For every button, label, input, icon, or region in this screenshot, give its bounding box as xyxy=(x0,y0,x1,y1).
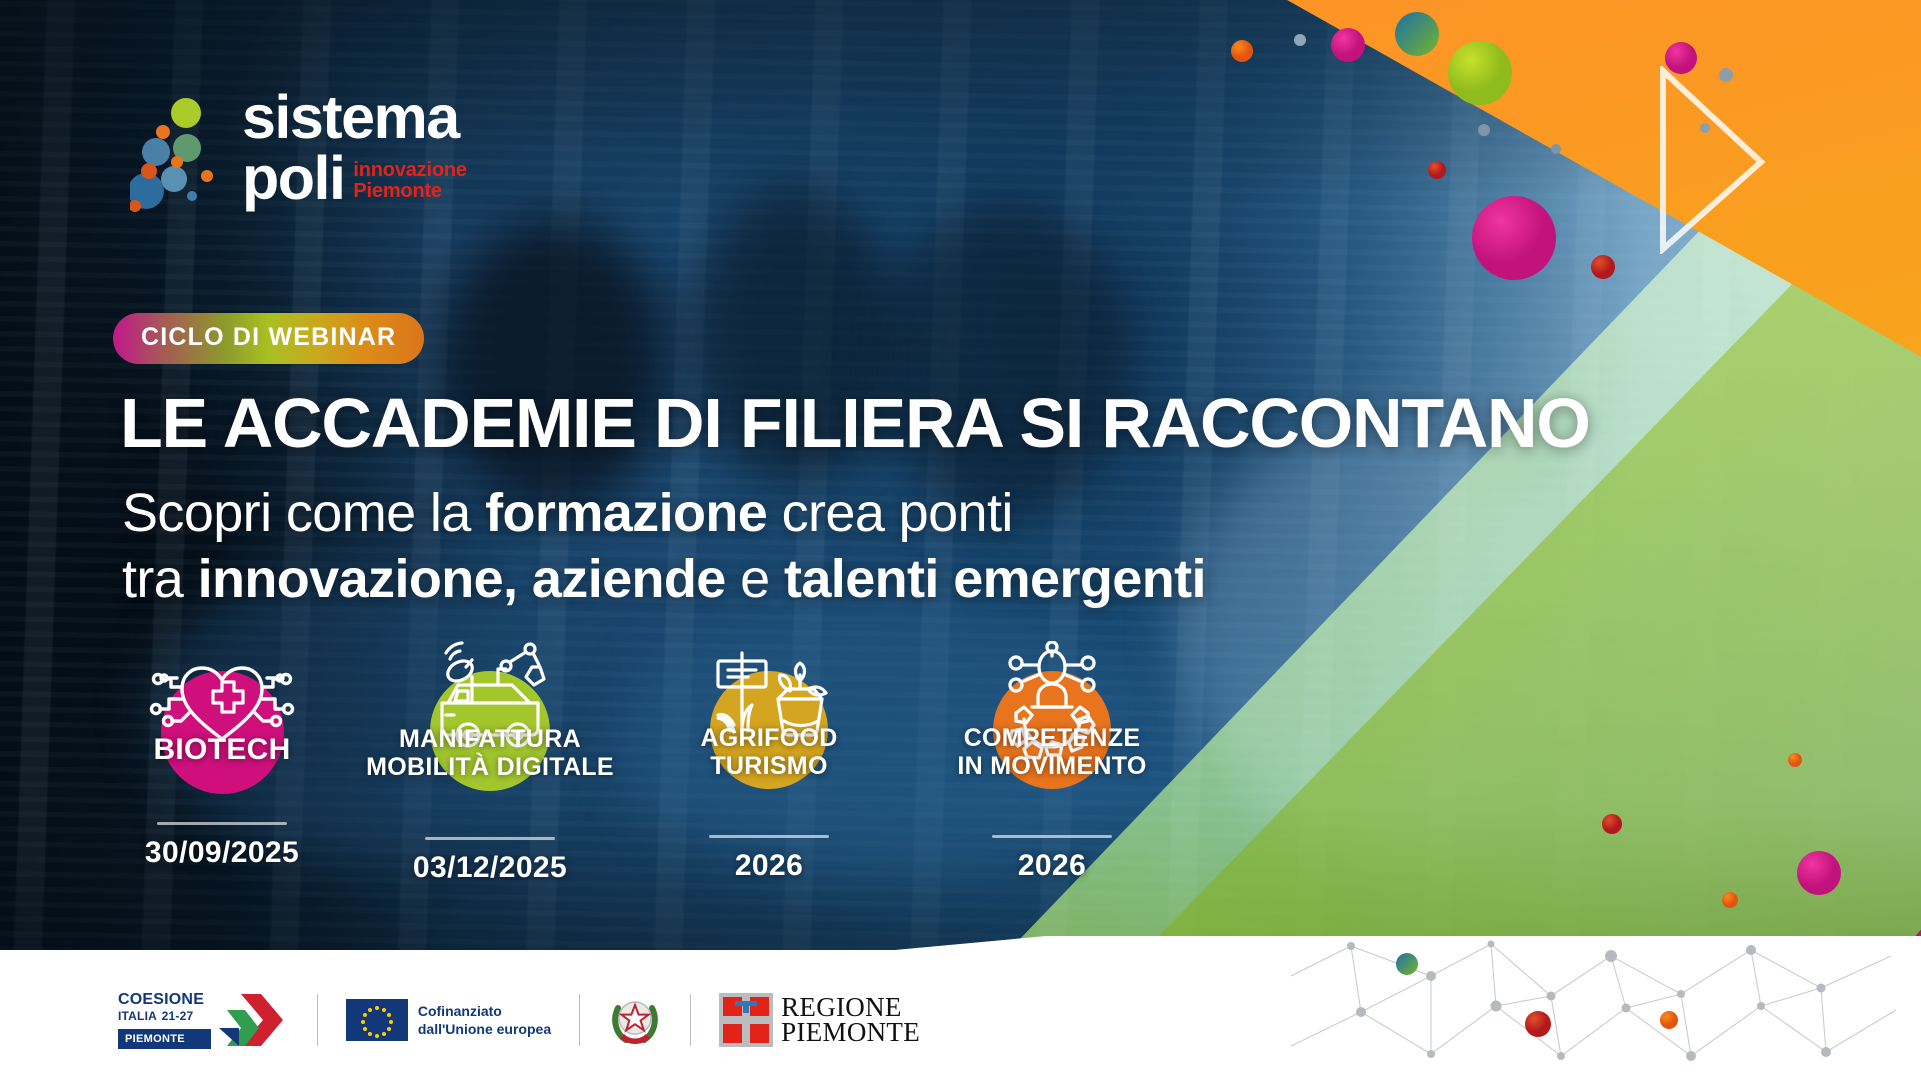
logo-bubbles-icon xyxy=(130,96,242,212)
academy-list: BIOTECH 30/09/2025 xyxy=(92,648,1212,868)
subtitle-l2-bold1: innovazione, aziende xyxy=(198,549,726,609)
academy-item-biotech[interactable]: BIOTECH 30/09/2025 xyxy=(92,648,352,870)
logo-line-poli: poli xyxy=(242,148,344,208)
institutional-logos: COESIONE ITALIA 21-27 PIEMONTE xyxy=(118,977,920,1063)
eu-line1: Cofinanziato xyxy=(418,1002,551,1020)
subtitle-l1-bold: formazione xyxy=(485,483,767,543)
coesione-years: 21-27 xyxy=(162,1009,194,1023)
play-triangle-icon xyxy=(1658,66,1766,254)
eu-line2: dall'Unione europea xyxy=(418,1020,551,1038)
academy-label-line1: AGRIFOOD xyxy=(700,724,837,752)
academy-date: 2026 xyxy=(634,849,904,883)
academy-date: 30/09/2025 xyxy=(92,836,352,870)
subtitle-l2-a: tra xyxy=(122,549,198,609)
academy-label-line2: TURISMO xyxy=(700,752,837,780)
subtitle-l2-c: e xyxy=(726,549,784,609)
academy-item-manifattura[interactable]: MANIFATTURA MOBILITÀ DIGITALE 03/12/2025 xyxy=(340,648,640,885)
eu-cofinance-logo: Cofinanziato dall'Unione europea xyxy=(346,999,551,1041)
subtitle-l2-bold2: talenti emergenti xyxy=(784,549,1206,609)
academy-label-line1: COMPETENZE xyxy=(957,724,1146,752)
academy-label-line1: BIOTECH xyxy=(153,733,290,766)
page-subtitle: Scopri come la formazione crea ponti tra… xyxy=(122,480,1206,612)
coesione-line2: ITALIA xyxy=(118,1009,157,1023)
academy-date: 03/12/2025 xyxy=(340,851,640,885)
logo-divider xyxy=(317,994,318,1046)
academy-label-line2: MOBILITÀ DIGITALE xyxy=(366,753,614,781)
logo-sub-innovazione: innovazione xyxy=(353,160,466,181)
logo-sub-piemonte: Piemonte xyxy=(353,181,466,202)
eu-flag-icon xyxy=(346,999,408,1041)
subtitle-l1-c: crea ponti xyxy=(767,483,1013,543)
academy-item-competenze[interactable]: COMPETENZE IN MOVIMENTO 2026 xyxy=(892,648,1212,883)
coesione-line1: COESIONE xyxy=(118,992,211,1007)
page-title: LE ACCADEMIE DI FILIERA SI RACCONTANO xyxy=(120,385,1590,461)
logo-divider xyxy=(690,994,691,1046)
academy-item-agrifood[interactable]: AGRIFOOD TURISMO 2026 xyxy=(634,648,904,883)
repubblica-italiana-emblem xyxy=(608,990,662,1050)
academy-date: 2026 xyxy=(892,849,1212,883)
logo-line-sistema: sistema xyxy=(242,86,467,148)
academy-label-line1: MANIFATTURA xyxy=(366,725,614,753)
sistema-poli-logo[interactable]: sistema poli innovazione Piemonte xyxy=(130,92,550,222)
italy-chevron-icon xyxy=(215,990,289,1050)
webinar-banner: sistema poli innovazione Piemonte CICLO … xyxy=(0,0,1921,1081)
italian-republic-emblem-icon xyxy=(608,990,662,1050)
coesione-italia-logo: COESIONE ITALIA 21-27 PIEMONTE xyxy=(118,990,289,1050)
regione-line2: PIEMONTE xyxy=(781,1020,920,1045)
subtitle-l1-a: Scopri come la xyxy=(122,483,485,543)
coesione-region: PIEMONTE xyxy=(118,1029,211,1049)
ciclo-di-webinar-badge: CICLO DI WEBINAR xyxy=(113,313,424,364)
regione-piemonte-cross-icon xyxy=(719,993,773,1047)
regione-piemonte-logo: REGIONE PIEMONTE xyxy=(719,993,920,1047)
logo-divider xyxy=(579,994,580,1046)
network-constellation-icon xyxy=(1281,936,1921,1081)
footer-band: COESIONE ITALIA 21-27 PIEMONTE xyxy=(0,936,1921,1081)
academy-label-line2: IN MOVIMENTO xyxy=(957,752,1146,780)
